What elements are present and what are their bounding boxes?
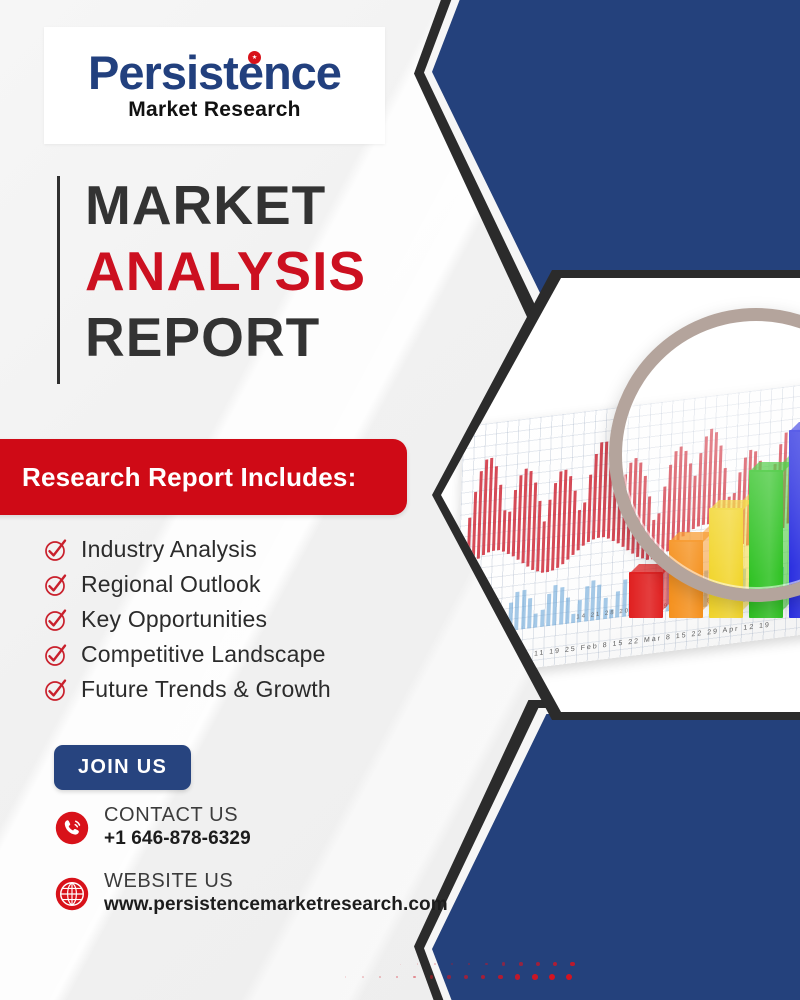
contact-label: WEBSITE US (104, 870, 448, 893)
volume-bar (546, 594, 551, 627)
decorative-dot (379, 976, 381, 978)
check-circle-icon (44, 643, 68, 667)
volume-bar (533, 613, 537, 627)
three-d-bar (629, 572, 663, 618)
contact-text: CONTACT US+1 646-878-6329 (104, 804, 251, 851)
title-line-2: ANALYSIS (85, 238, 366, 304)
contact-row[interactable]: CONTACT US+1 646-878-6329 (54, 804, 448, 851)
candlestick (507, 511, 511, 553)
decorative-dot (447, 975, 451, 979)
bottom-hexagon-outline (414, 700, 800, 1000)
candlestick (541, 521, 546, 572)
decorative-dot (553, 962, 557, 966)
volume-bar (521, 590, 526, 630)
candlestick (577, 510, 581, 550)
dot-pattern-decoration (345, 958, 605, 988)
logo-wordmark: Persistence (88, 49, 341, 96)
contact-block: CONTACT US+1 646-878-6329WEBSITE USwww.p… (54, 804, 448, 936)
check-circle-icon (44, 678, 68, 702)
volume-bar (483, 594, 488, 635)
logo-tagline: Market Research (128, 98, 301, 122)
decorative-dot (536, 962, 540, 966)
feature-item: Competitive Landscape (44, 637, 331, 672)
volume-bar (559, 587, 564, 625)
check-circle-icon (44, 573, 68, 597)
volume-bar (565, 597, 570, 623)
feature-item: Key Opportunities (44, 602, 331, 637)
decorative-dot (417, 963, 418, 964)
volume-bar (571, 614, 575, 623)
decorative-dot (485, 963, 488, 966)
decorative-dot (532, 974, 538, 980)
volume-bar (464, 630, 468, 637)
contact-label: CONTACT US (104, 804, 251, 827)
feature-item: Future Trends & Growth (44, 672, 331, 707)
decorative-dot (430, 975, 433, 978)
volume-bar (470, 611, 475, 635)
feature-item: Regional Outlook (44, 567, 331, 602)
contact-text: WEBSITE USwww.persistencemarketresearch.… (104, 870, 448, 917)
feature-item: Industry Analysis (44, 532, 331, 567)
phone-icon (54, 810, 90, 846)
feature-item-label: Competitive Landscape (81, 641, 326, 668)
feature-item-label: Future Trends & Growth (81, 676, 331, 703)
research-report-banner: Research Report Includes: (0, 439, 407, 515)
decorative-dot (566, 974, 572, 980)
decorative-dot (400, 964, 401, 965)
decorative-dot (464, 975, 468, 979)
top-hexagon-gap (424, 0, 800, 312)
decorative-dot (362, 976, 364, 978)
volume-bar (552, 585, 557, 625)
decorative-dot (451, 963, 453, 965)
bottom-hexagon-gap (424, 708, 800, 1000)
title-line-1: MARKET (85, 172, 366, 238)
decorative-dot (413, 976, 416, 979)
brand-logo: Persistence Market Research (44, 27, 385, 144)
feature-item-label: Industry Analysis (81, 536, 257, 563)
decorative-dot (396, 976, 398, 978)
decorative-dot (468, 963, 470, 965)
globe-icon (54, 876, 90, 912)
photo-hexagon-frame: 14 21 28 2010 11 19 25 Feb 8 15 22 Mar 8… (441, 278, 800, 712)
title-left-rule (57, 176, 60, 384)
decorative-dot (345, 976, 346, 977)
contact-row[interactable]: WEBSITE USwww.persistencemarketresearch.… (54, 870, 448, 917)
top-hexagon-navy (432, 0, 800, 306)
decorative-dot (570, 962, 575, 967)
decorative-dot (549, 974, 555, 980)
page-title: MARKET ANALYSIS REPORT (57, 172, 366, 370)
check-circle-icon (44, 538, 68, 562)
decorative-dot (498, 975, 503, 980)
decorative-dot (481, 975, 485, 979)
decorative-dot (515, 974, 520, 979)
logo-wordmark-text: Persistence (88, 46, 341, 99)
feature-item-label: Key Opportunities (81, 606, 267, 633)
decorative-dot (434, 963, 436, 965)
magnifier-chart-photo: 14 21 28 2010 11 19 25 Feb 8 15 22 Mar 8… (441, 278, 800, 712)
volume-bar (527, 598, 532, 629)
candlestick (582, 503, 586, 546)
decorative-dot (502, 962, 505, 965)
feature-item-label: Regional Outlook (81, 571, 261, 598)
decorative-dot (519, 962, 523, 966)
volume-bar (515, 591, 520, 630)
candlestick (502, 510, 506, 551)
volume-bar (477, 598, 482, 635)
logo-star-dot-icon (248, 51, 261, 64)
volume-bar (540, 610, 545, 627)
contact-value[interactable]: www.persistencemarketresearch.com (104, 893, 448, 917)
banner-heading: Research Report Includes: (22, 462, 356, 493)
check-circle-icon (44, 608, 68, 632)
join-us-button[interactable]: JOIN US (54, 745, 191, 790)
title-line-3: REPORT (85, 304, 366, 370)
poster-canvas: 14 21 28 2010 11 19 25 Feb 8 15 22 Mar 8… (0, 0, 800, 1000)
feature-list: Industry AnalysisRegional OutlookKey Opp… (44, 532, 331, 707)
contact-value[interactable]: +1 646-878-6329 (104, 827, 251, 851)
